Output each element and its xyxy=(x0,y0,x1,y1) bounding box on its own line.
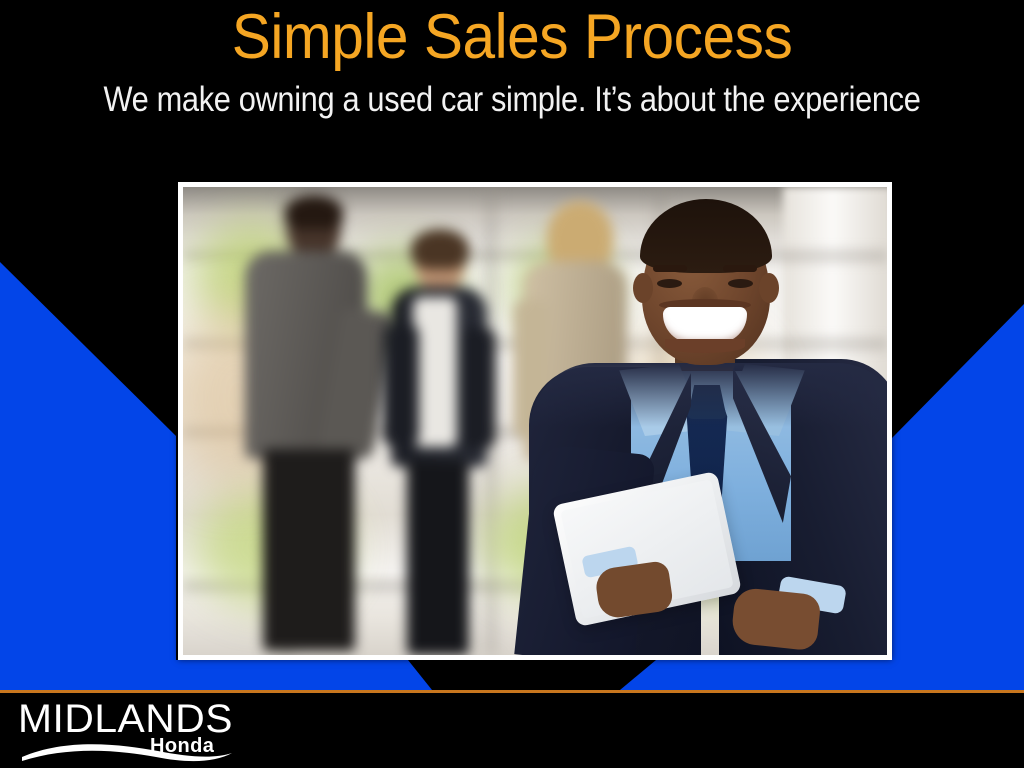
ear-left xyxy=(633,273,653,303)
page-subtitle: We make owning a used car simple. It’s a… xyxy=(61,80,962,120)
footer-band: MIDLANDS Honda Sales(844) 805-1973See th… xyxy=(0,693,1024,768)
hair xyxy=(640,199,772,273)
blue-band-bottom-right xyxy=(620,660,1024,690)
hero-photo-frame xyxy=(178,182,892,660)
eyebrow-left xyxy=(653,265,687,272)
blue-wedge-right xyxy=(892,304,1024,672)
hand-right xyxy=(730,587,821,652)
suit-shoulders xyxy=(531,363,887,427)
lower-lip xyxy=(665,339,745,353)
ear-right xyxy=(759,273,779,303)
background-person-dark-blazer xyxy=(379,235,503,655)
foreground-businessman xyxy=(535,199,885,655)
eyebrow-right xyxy=(723,265,757,272)
page-title: Simple Sales Process xyxy=(36,4,988,70)
eye-right xyxy=(728,279,753,288)
blue-band-bottom-left xyxy=(0,660,432,690)
header-band: Simple Sales Process We make owning a us… xyxy=(0,0,1024,150)
advertisement-slide: Simple Sales Process We make owning a us… xyxy=(0,0,1024,768)
blue-wedge-left xyxy=(0,262,176,672)
dealer-logo[interactable]: MIDLANDS Honda xyxy=(18,697,238,763)
hero-photo xyxy=(183,187,887,655)
eye-left xyxy=(657,279,682,288)
smile-teeth xyxy=(663,307,747,343)
logo-swoosh-icon xyxy=(18,737,238,763)
